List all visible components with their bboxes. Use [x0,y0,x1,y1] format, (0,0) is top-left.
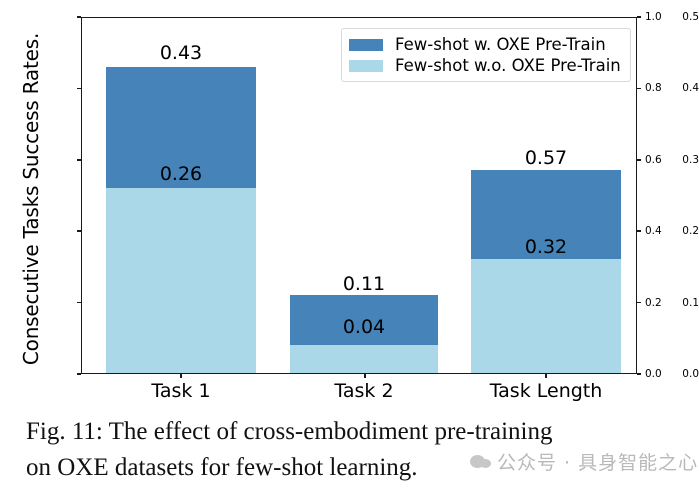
caption-line-2: on OXE datasets for few-shot learning. [26,450,676,486]
x-tickmark-2 [545,374,547,378]
legend-swatch-light-blue [349,60,383,72]
bar-task-length[interactable] [471,170,621,374]
value-label-task-2-base: 0.04 [343,316,385,338]
bar-task-1[interactable] [106,67,256,373]
y-tick-right-0: 0.0 [645,368,662,380]
value-label-task-length-base: 0.32 [525,236,567,258]
value-label-task-1-total: 0.43 [160,42,202,64]
legend-label-without-pretrain: Few-shot w.o. OXE Pre-Train [395,56,621,75]
caption-line-1: Fig. 11: The effect of cross-embodiment … [26,414,676,450]
value-label-task-1-base: 0.26 [160,163,202,185]
bar-segment-task-1-without-pretrain[interactable] [106,188,256,373]
y-tickmark-right-3 [637,159,641,161]
x-tick-label-task-1: Task 1 [151,380,210,402]
y-tickmark-right-1 [637,302,641,304]
y-tick-right-5: 1.0 [645,11,662,23]
legend-swatch-dark-blue [349,39,383,51]
chart-legend[interactable]: Few-shot w. OXE Pre-Train Few-shot w.o. … [341,28,631,82]
x-tick-label-task-2: Task 2 [334,380,393,402]
y-tickmark-right-4 [637,88,641,90]
legend-entry-without-pretrain[interactable]: Few-shot w.o. OXE Pre-Train [349,55,621,76]
y-tick-right-1: 0.2 [645,297,662,309]
x-tickmark-0 [180,374,182,378]
figure-bar-chart: Consecutive Tasks Success Rates. Avg. Le… [0,0,699,410]
value-label-task-length-total: 0.57 [525,147,567,169]
y-tick-right-3: 0.6 [645,154,662,166]
figure-caption: Fig. 11: The effect of cross-embodiment … [26,414,676,486]
bar-segment-task-length-without-pretrain[interactable] [471,259,621,373]
y-tickmark-right-5 [637,16,641,18]
x-tick-label-task-length: Task Length [490,380,603,402]
x-tickmark-1 [364,374,366,378]
y-tickmark-right-2 [637,230,641,232]
value-label-task-2-total: 0.11 [343,273,385,295]
y-tick-right-4: 0.8 [645,82,662,94]
legend-entry-with-pretrain[interactable]: Few-shot w. OXE Pre-Train [349,34,621,55]
y-axis-label-left: Consecutive Tasks Success Rates. [19,29,43,369]
y-tickmark-right-0 [637,373,641,375]
bar-segment-task-2-without-pretrain[interactable] [290,345,438,374]
legend-label-with-pretrain: Few-shot w. OXE Pre-Train [395,35,606,54]
y-tick-right-2: 0.4 [645,225,662,237]
